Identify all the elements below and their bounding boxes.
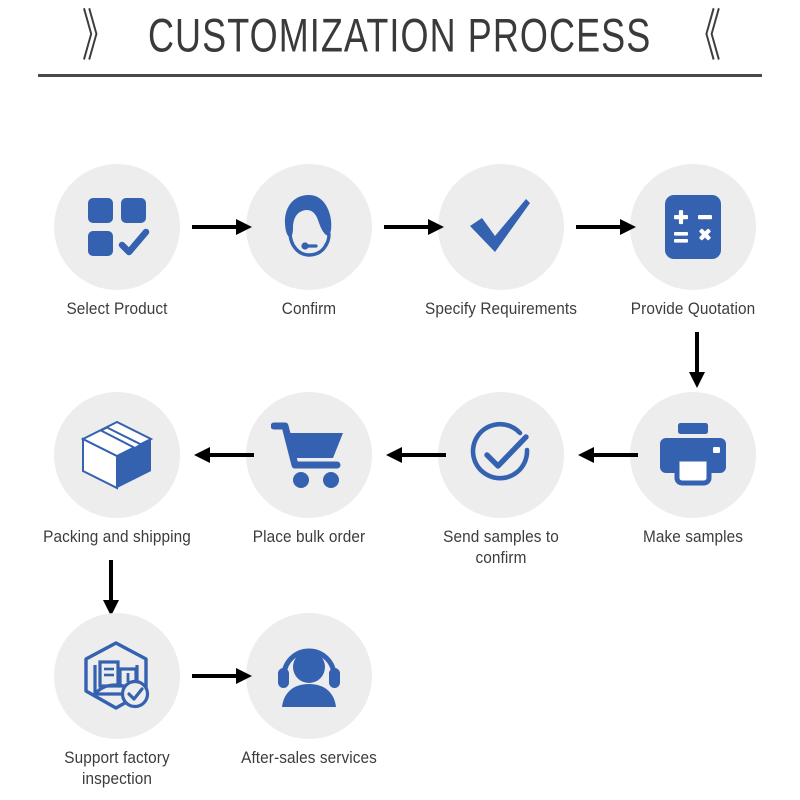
page-title: 》CUSTOMIZATION PROCESS《 xyxy=(0,8,800,64)
step-icon-circle xyxy=(438,392,564,518)
step-label: Place bulk order xyxy=(225,527,392,548)
checkmark-icon xyxy=(464,190,538,264)
step-label: Select Product xyxy=(33,299,200,320)
page-header: 》CUSTOMIZATION PROCESS《 xyxy=(0,0,800,92)
arrow-right-3 xyxy=(576,216,638,238)
shopping-cart-icon xyxy=(271,420,347,490)
step-icon-circle xyxy=(54,392,180,518)
title-divider xyxy=(38,74,762,77)
step-icon-circle xyxy=(246,613,372,739)
arrow-left-1 xyxy=(576,444,638,466)
calculator-icon xyxy=(662,192,724,262)
chevron-right-decor: 《 xyxy=(688,2,718,70)
page-title-text: CUSTOMIZATION PROCESS xyxy=(146,3,653,69)
step-icon-circle xyxy=(246,392,372,518)
step-label: Make samples xyxy=(609,527,776,548)
circle-check-icon xyxy=(465,419,537,491)
step-icon-circle xyxy=(438,164,564,290)
process-step-select-product[interactable]: Select Product xyxy=(27,164,207,320)
printer-icon xyxy=(656,421,730,489)
support-person-icon xyxy=(272,643,346,709)
process-step-packing-and-shipping[interactable]: Packing and shipping xyxy=(27,392,207,548)
arrow-down-left xyxy=(100,560,122,618)
arrow-right-4 xyxy=(192,665,254,687)
factory-shield-check-icon xyxy=(80,640,154,712)
process-step-place-bulk-order[interactable]: Place bulk order xyxy=(219,392,399,548)
process-step-confirm[interactable]: Confirm xyxy=(219,164,399,320)
step-label: Support factory inspection xyxy=(33,748,200,790)
arrow-right-2 xyxy=(384,216,446,238)
process-step-make-samples[interactable]: Make samples xyxy=(603,392,783,548)
step-icon-circle xyxy=(54,613,180,739)
headset-agent-icon xyxy=(272,190,346,264)
process-step-support-factory-inspection[interactable]: Support factory inspection xyxy=(27,613,207,790)
grid-check-icon xyxy=(84,194,150,260)
step-label: Specify Requirements xyxy=(417,299,584,320)
package-box-icon xyxy=(79,419,155,491)
process-step-after-sales-services[interactable]: After-sales services xyxy=(219,613,399,769)
step-icon-circle xyxy=(54,164,180,290)
step-label: After-sales services xyxy=(225,748,392,769)
arrow-down-right xyxy=(686,332,708,390)
arrow-left-2 xyxy=(384,444,446,466)
step-icon-circle xyxy=(630,392,756,518)
process-step-send-samples-to-confirm[interactable]: Send samples to confirm xyxy=(411,392,591,569)
arrow-left-3 xyxy=(192,444,254,466)
step-icon-circle xyxy=(246,164,372,290)
process-step-specify-requirements[interactable]: Specify Requirements xyxy=(411,164,591,320)
step-label: Confirm xyxy=(225,299,392,320)
chevron-left-decor: 》 xyxy=(82,2,112,70)
step-label: Packing and shipping xyxy=(33,527,200,548)
step-icon-circle xyxy=(630,164,756,290)
process-step-provide-quotation[interactable]: Provide Quotation xyxy=(603,164,783,320)
arrow-right-1 xyxy=(192,216,254,238)
step-label: Provide Quotation xyxy=(609,299,776,320)
step-label: Send samples to confirm xyxy=(417,527,584,569)
